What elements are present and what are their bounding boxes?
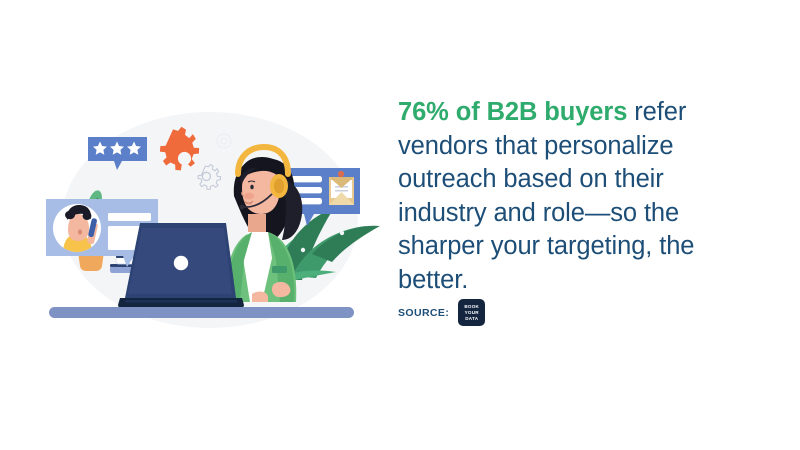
source-label: SOURCE:: [398, 307, 449, 319]
source-attribution: SOURCE: BOOK YOUR DATA: [398, 299, 485, 326]
page-headline: 76% of B2B buyers refer vendors that per…: [398, 96, 750, 297]
infographic-canvas: 76% of B2B buyers refer vendors that per…: [0, 0, 800, 450]
stat-highlight: 76% of B2B buyers: [398, 98, 627, 126]
headline-block: 76% of B2B buyers refer vendors that per…: [398, 96, 750, 297]
book-your-data-logo[interactable]: BOOK YOUR DATA: [458, 299, 485, 326]
desk-surface: [49, 307, 354, 318]
logo-line-3: DATA: [465, 316, 478, 322]
headline-body: refer vendors that personalize outreach …: [398, 98, 694, 294]
customer-support-agent-illustration: [30, 108, 390, 333]
